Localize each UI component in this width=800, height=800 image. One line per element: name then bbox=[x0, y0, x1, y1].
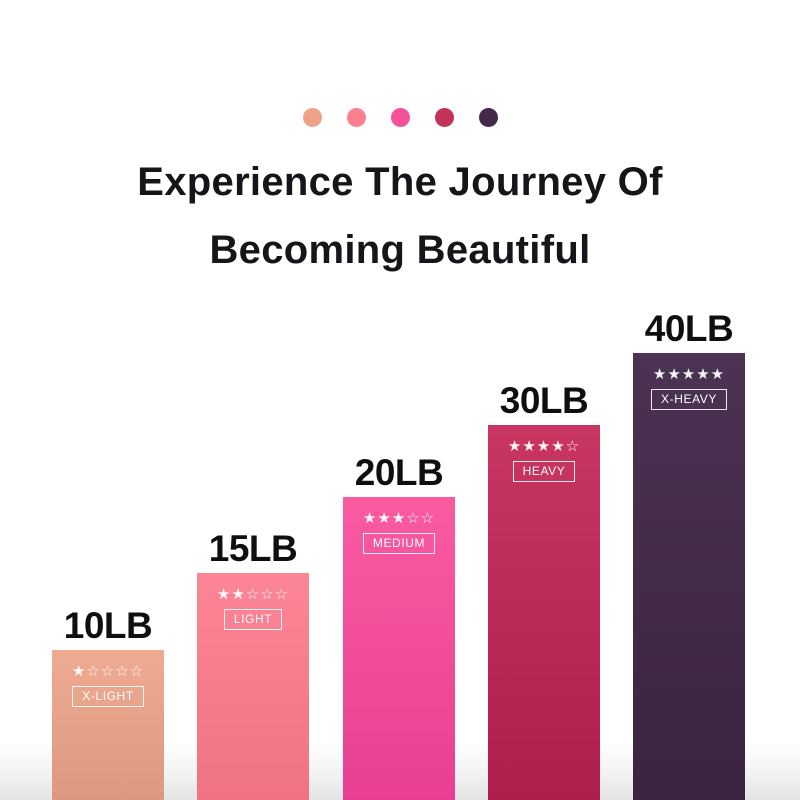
dot-x-light-icon bbox=[303, 108, 322, 127]
bar-group-x-heavy: 40LB ★★★★★ X-HEAVY bbox=[633, 353, 745, 800]
bar-value-label: 30LB bbox=[500, 382, 588, 419]
bar-group-x-light: 10LB ★☆☆☆☆ X-LIGHT bbox=[52, 650, 164, 800]
bar-badge: ★★★☆☆ MEDIUM bbox=[343, 511, 455, 554]
bar-badge: ★★☆☆☆ LIGHT bbox=[197, 587, 309, 630]
bar-badge: ★☆☆☆☆ X-LIGHT bbox=[52, 664, 164, 707]
bar-group-medium: 20LB ★★★☆☆ MEDIUM bbox=[343, 497, 455, 800]
bar-light: ★★☆☆☆ LIGHT bbox=[197, 573, 309, 800]
headline-line-2: Becoming Beautiful bbox=[0, 216, 800, 284]
page-title: Experience The Journey Of Becoming Beaut… bbox=[0, 148, 800, 284]
bar-value-label: 40LB bbox=[645, 310, 733, 347]
level-label: X-LIGHT bbox=[72, 686, 144, 707]
bar-group-light: 15LB ★★☆☆☆ LIGHT bbox=[197, 573, 309, 800]
star-rating-icon: ★☆☆☆☆ bbox=[72, 664, 144, 679]
bar-x-heavy: ★★★★★ X-HEAVY bbox=[633, 353, 745, 800]
level-label: LIGHT bbox=[224, 609, 282, 630]
dot-medium-icon bbox=[391, 108, 410, 127]
resistance-band-poster: Experience The Journey Of Becoming Beaut… bbox=[0, 0, 800, 800]
star-rating-icon: ★★★☆☆ bbox=[363, 511, 435, 526]
bar-x-light: ★☆☆☆☆ X-LIGHT bbox=[52, 650, 164, 800]
bar-value-label: 20LB bbox=[355, 454, 443, 491]
level-label: HEAVY bbox=[513, 461, 576, 482]
bar-value-label: 15LB bbox=[209, 530, 297, 567]
bar-badge: ★★★★★ X-HEAVY bbox=[633, 367, 745, 410]
color-swatch-row bbox=[0, 108, 800, 127]
star-rating-icon: ★★★★★ bbox=[653, 367, 725, 382]
level-label: MEDIUM bbox=[363, 533, 435, 554]
bar-heavy: ★★★★☆ HEAVY bbox=[488, 425, 600, 800]
bar-value-label: 10LB bbox=[64, 607, 152, 644]
level-label: X-HEAVY bbox=[651, 389, 727, 410]
bar-medium: ★★★☆☆ MEDIUM bbox=[343, 497, 455, 800]
bar-group-heavy: 30LB ★★★★☆ HEAVY bbox=[488, 425, 600, 800]
bar-badge: ★★★★☆ HEAVY bbox=[488, 439, 600, 482]
star-rating-icon: ★★★★☆ bbox=[508, 439, 580, 454]
dot-light-icon bbox=[347, 108, 366, 127]
headline-line-1: Experience The Journey Of bbox=[0, 148, 800, 216]
dot-heavy-icon bbox=[435, 108, 454, 127]
star-rating-icon: ★★☆☆☆ bbox=[217, 587, 289, 602]
dot-x-heavy-icon bbox=[479, 108, 498, 127]
